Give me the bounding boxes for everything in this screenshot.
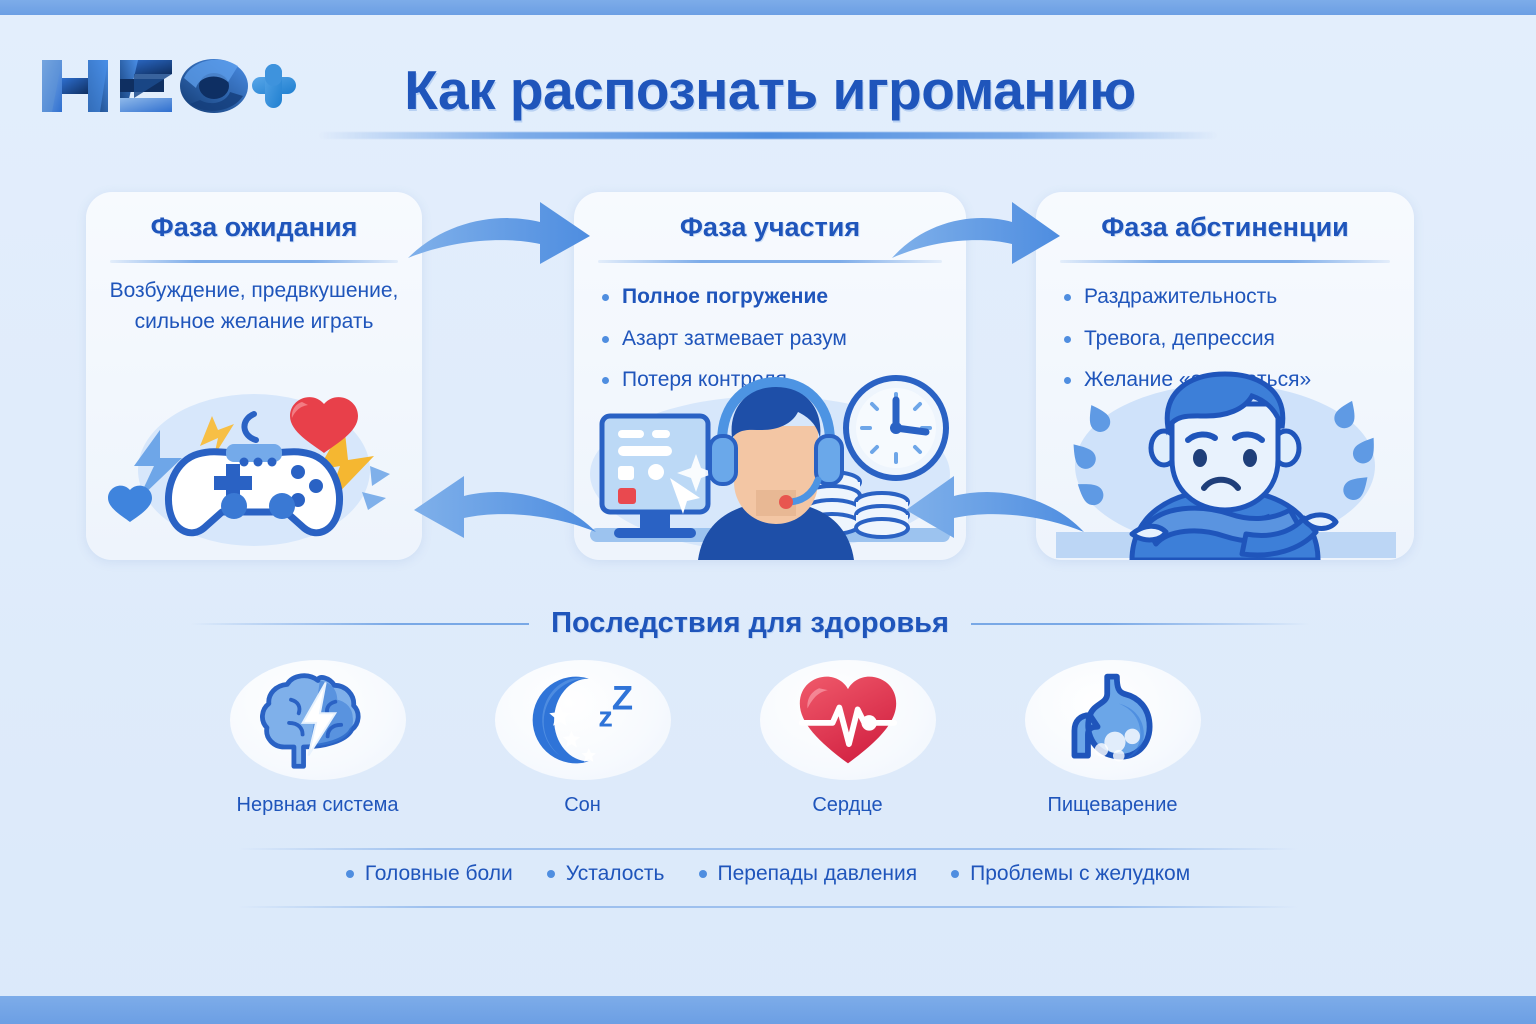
phase-card-title: Фаза участия <box>574 212 966 243</box>
list-item: Тревога, депрессия <box>1058 318 1404 360</box>
phase-card-title: Фаза ожидания <box>86 212 422 243</box>
moon-zzz-icon: z Z <box>525 667 641 773</box>
rule-right <box>971 623 1310 625</box>
brand-logo <box>38 48 298 124</box>
phase-card-participation[interactable]: Фаза участия Полное погружение Азарт зат… <box>574 192 966 560</box>
symptoms-rule-top <box>238 848 1298 850</box>
symptom-label: Перепады давления <box>718 862 918 886</box>
list-item: Перепады давления <box>699 862 918 886</box>
card-divider <box>598 260 942 263</box>
bullet-dot-icon <box>699 870 707 878</box>
list-item: Азарт затмевает разум <box>596 318 956 360</box>
symptom-label: Проблемы с желудком <box>970 862 1190 886</box>
phase-cards: Фаза ожидания Возбуждение, предвкушение,… <box>0 192 1536 562</box>
title-underline <box>318 132 1218 139</box>
symptom-label: Головные боли <box>365 862 513 886</box>
health-items: Нервная система z Z Сон <box>215 660 1215 817</box>
svg-text:z: z <box>598 702 612 734</box>
gamepad-heart-icon <box>86 370 422 560</box>
health-item-label: Сердце <box>745 794 950 817</box>
top-band <box>0 0 1536 15</box>
health-item-digestion[interactable]: Пищеварение <box>1010 660 1215 817</box>
symptoms-rule-bottom <box>238 906 1298 908</box>
page-title: Как распознать игроманию <box>340 58 1200 122</box>
phase-card-title: Фаза абстиненции <box>1036 212 1414 243</box>
icon-bubble: z Z <box>495 660 671 780</box>
card-divider <box>110 260 398 263</box>
phase-card-withdrawal[interactable]: Фаза абстиненции Раздражительность Трево… <box>1036 192 1414 560</box>
health-item-nervous-system[interactable]: Нервная система <box>215 660 420 817</box>
sad-person-icon <box>1036 370 1414 560</box>
gamer-headset-icon <box>574 370 966 560</box>
bullet-dot-icon <box>951 870 959 878</box>
health-item-heart[interactable]: Сердце <box>745 660 950 817</box>
icon-bubble <box>1025 660 1201 780</box>
infographic-poster: Как распознать игроманию Фаза ожидания В… <box>0 0 1536 1024</box>
list-item: Усталость <box>547 862 665 886</box>
phase-card-expectation[interactable]: Фаза ожидания Возбуждение, предвкушение,… <box>86 192 422 560</box>
stomach-icon <box>1055 667 1171 773</box>
brain-lightning-icon <box>260 667 376 773</box>
bullet-dot-icon <box>547 870 555 878</box>
rule-left <box>190 623 529 625</box>
health-item-label: Пищеварение <box>1010 794 1215 817</box>
health-section-header: Последствия для здоровья <box>190 607 1310 640</box>
icon-bubble <box>230 660 406 780</box>
list-item: Раздражительность <box>1058 276 1404 318</box>
bottom-band <box>0 996 1536 1024</box>
list-item: Головные боли <box>346 862 513 886</box>
health-item-label: Нервная система <box>215 794 420 817</box>
symptom-label: Усталость <box>566 862 665 886</box>
icon-bubble <box>760 660 936 780</box>
symptoms-list: Головные боли Усталость Перепады давлени… <box>0 862 1536 886</box>
heart-pulse-icon <box>790 667 906 773</box>
health-item-sleep[interactable]: z Z Сон <box>480 660 685 817</box>
health-item-label: Сон <box>480 794 685 817</box>
card-divider <box>1060 260 1390 263</box>
header: Как распознать игроманию <box>0 28 1536 138</box>
svg-text:Z: Z <box>611 679 632 717</box>
health-section-title: Последствия для здоровья <box>551 607 949 640</box>
list-item: Полное погружение <box>596 276 956 318</box>
phase-card-text: Возбуждение, предвкушение, сильное желан… <box>86 276 422 337</box>
bullet-dot-icon <box>346 870 354 878</box>
list-item: Проблемы с желудком <box>951 862 1190 886</box>
